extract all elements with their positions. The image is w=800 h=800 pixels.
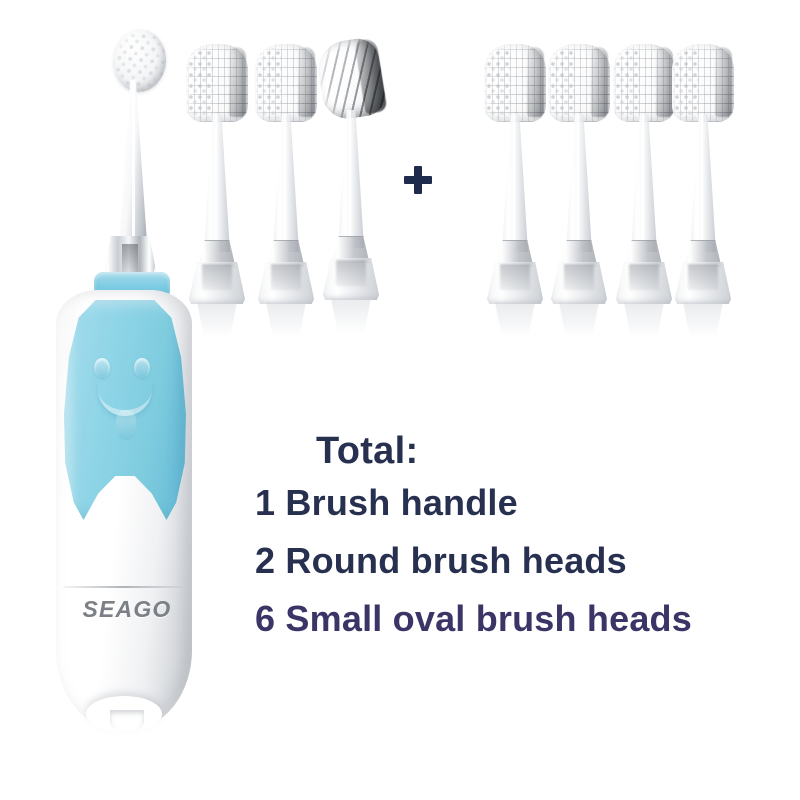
bristle-block-icon: [672, 44, 734, 122]
brush-neck: [502, 114, 528, 252]
brush-base: [675, 262, 731, 304]
smiley-eye-left: [94, 358, 110, 378]
grip-nub: [116, 410, 136, 440]
plus-icon: [404, 166, 432, 194]
brush-base: [551, 262, 607, 304]
total-label: Total:: [316, 428, 720, 474]
smiley-eye-right: [134, 358, 150, 378]
brush-neck: [631, 114, 657, 252]
product-image-canvas: SEAGO: [0, 0, 800, 800]
brush-base: [487, 262, 543, 304]
contents-line-oval-heads: 6 Small oval brush heads: [255, 590, 720, 648]
brush-neck: [338, 110, 364, 248]
brush-reflection: [619, 302, 669, 338]
contents-line-handle: 1 Brush handle: [255, 474, 720, 532]
attached-round-brush-head-icon: [111, 27, 169, 94]
bristle-block-icon: [548, 44, 610, 122]
brand-logo: SEAGO: [72, 596, 182, 623]
bristle-block-icon: [255, 44, 317, 122]
bristle-block-icon: [186, 44, 248, 122]
handle-seam-line: [63, 586, 185, 588]
contents-line-round-heads: 2 Round brush heads: [255, 532, 720, 590]
brush-reflection: [678, 302, 728, 338]
brush-reflection: [261, 302, 311, 338]
brush-base: [616, 262, 672, 304]
brush-reflection: [192, 302, 242, 338]
brush-reflection: [554, 302, 604, 338]
bristle-block-icon: [484, 44, 546, 122]
contents-summary: Total: 1 Brush handle 2 Round brush head…: [250, 428, 720, 648]
brush-neck: [566, 114, 592, 252]
brush-base: [189, 262, 245, 304]
brush-neck: [690, 114, 716, 252]
brush-neck: [204, 114, 230, 252]
brush-base: [323, 258, 379, 300]
bristle-block-icon: [613, 44, 675, 122]
handle-base-notch: [110, 710, 144, 732]
brush-reflection: [326, 298, 376, 334]
brush-base: [258, 262, 314, 304]
brush-neck: [273, 114, 299, 252]
brush-reflection: [490, 302, 540, 338]
toothbrush-handle: SEAGO: [28, 8, 188, 738]
bristle-block-icon: [314, 36, 387, 123]
smiley-face-embossing: [90, 348, 162, 426]
